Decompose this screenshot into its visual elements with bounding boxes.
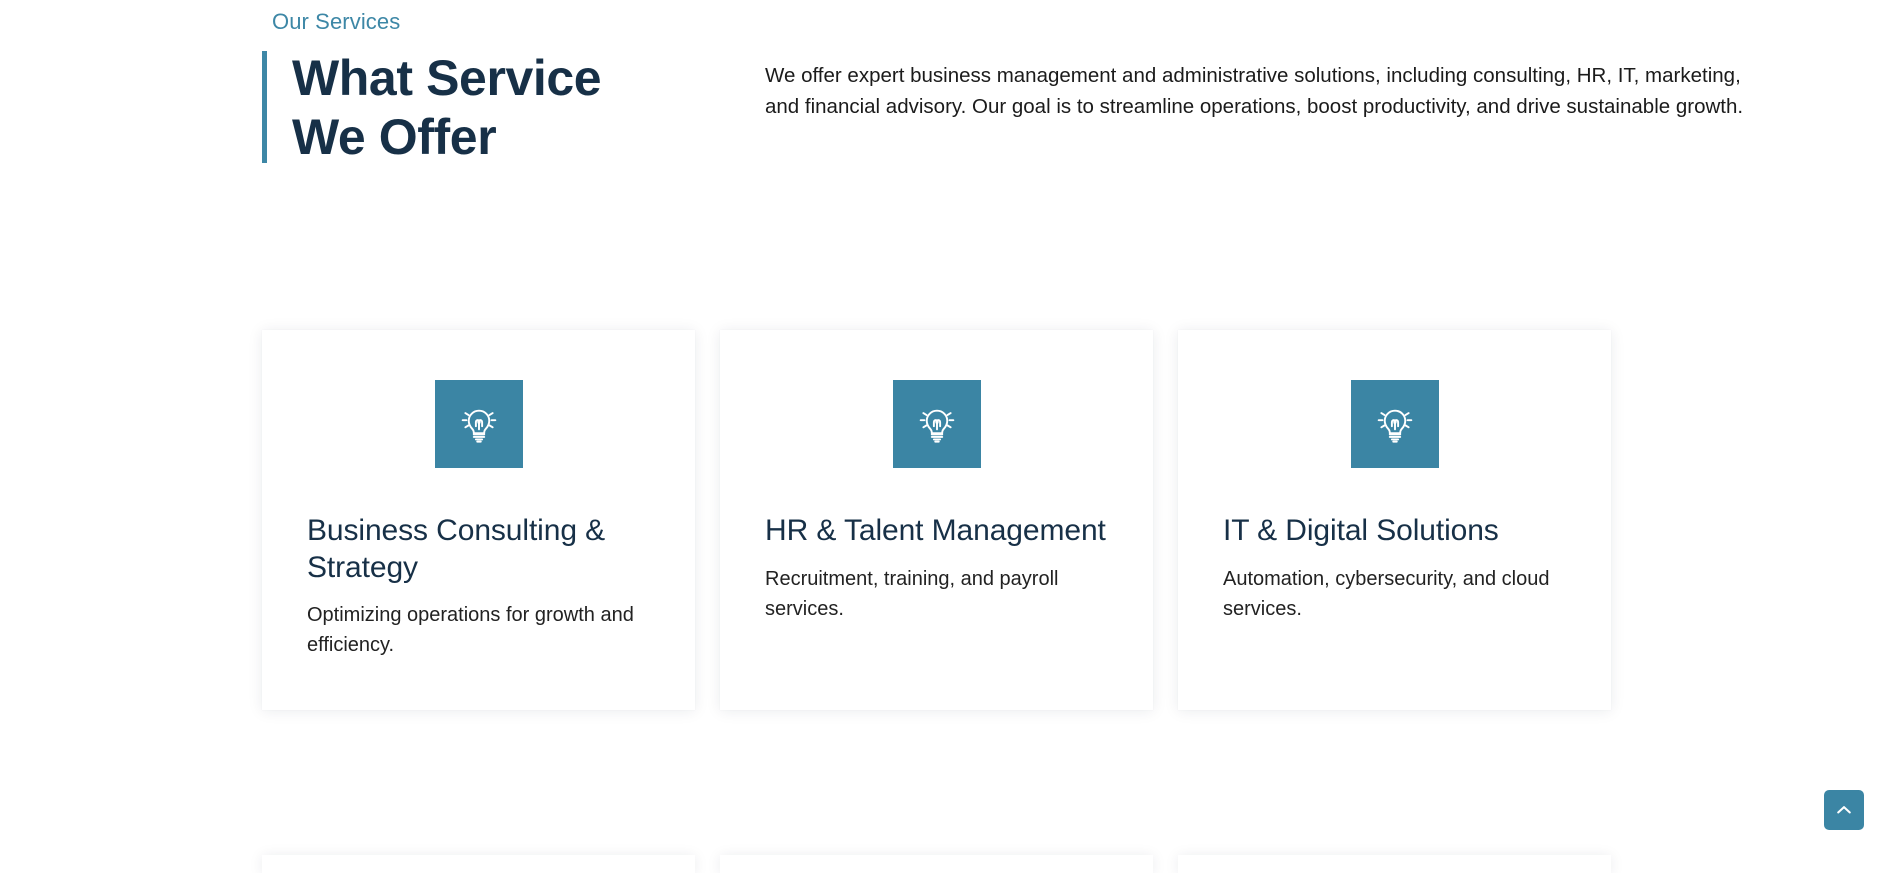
page-title: What Service We Offer xyxy=(267,49,682,166)
lightbulb-icon xyxy=(1351,380,1439,468)
lightbulb-icon xyxy=(893,380,981,468)
service-card-partial[interactable] xyxy=(1178,855,1611,873)
service-card-description: Automation, cybersecurity, and cloud ser… xyxy=(1223,550,1566,624)
next-row-card-peek xyxy=(262,855,1610,873)
service-card-list: Business Consulting & Strategy Optimizin… xyxy=(262,330,1610,710)
lightbulb-icon xyxy=(435,380,523,468)
service-card-partial[interactable] xyxy=(262,855,695,873)
service-card-partial[interactable] xyxy=(720,855,1153,873)
service-card-title: Business Consulting & Strategy xyxy=(307,468,650,586)
header-row: What Service We Offer We offer expert bu… xyxy=(262,49,1612,166)
section-title-wrap: What Service We Offer xyxy=(262,49,682,166)
service-card-title: IT & Digital Solutions xyxy=(1223,468,1566,550)
scroll-to-top-button[interactable] xyxy=(1824,790,1864,830)
section-eyebrow: Our Services xyxy=(262,0,1612,35)
service-card-description: Optimizing operations for growth and eff… xyxy=(307,586,650,660)
service-card-description: Recruitment, training, and payroll servi… xyxy=(765,550,1108,624)
service-card[interactable]: IT & Digital Solutions Automation, cyber… xyxy=(1178,330,1611,710)
section-header: Our Services What Service We Offer We of… xyxy=(262,0,1612,166)
service-card-title: HR & Talent Management xyxy=(765,468,1108,550)
chevron-up-icon xyxy=(1834,800,1854,820)
services-section: Our Services What Service We Offer We of… xyxy=(0,0,1900,861)
section-description: We offer expert business management and … xyxy=(765,49,1755,122)
service-card[interactable]: HR & Talent Management Recruitment, trai… xyxy=(720,330,1153,710)
service-card[interactable]: Business Consulting & Strategy Optimizin… xyxy=(262,330,695,710)
